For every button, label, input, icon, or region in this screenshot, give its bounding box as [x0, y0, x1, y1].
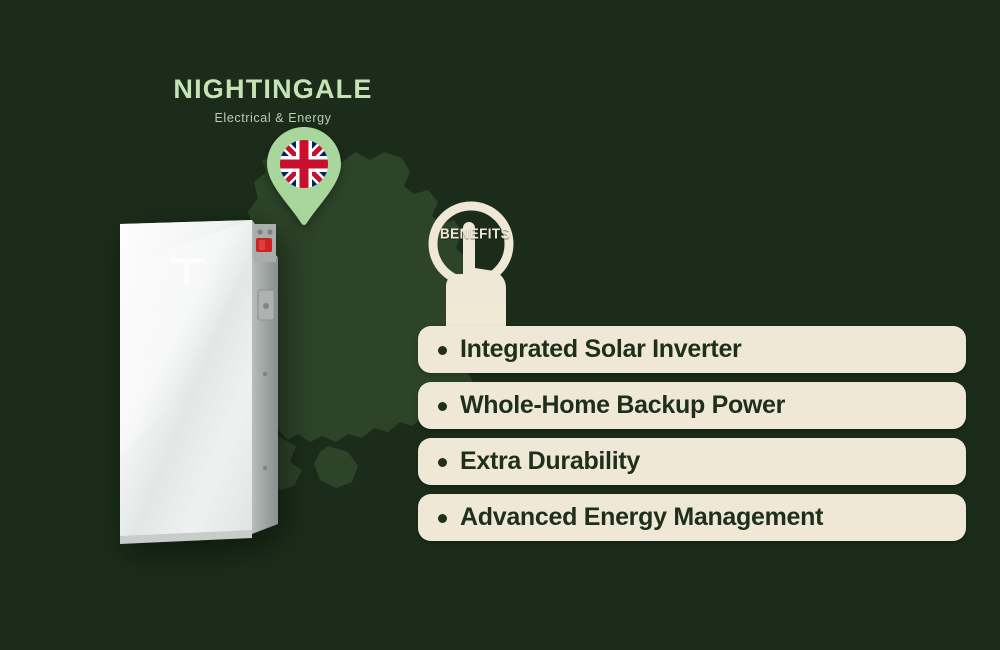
benefit-label: Whole-Home Backup Power: [460, 393, 785, 418]
benefit-pill[interactable]: Extra Durability: [418, 438, 966, 485]
benefit-pill[interactable]: Whole-Home Backup Power: [418, 382, 966, 429]
brand-tagline: Electrical & Energy: [108, 112, 438, 125]
benefit-label: Integrated Solar Inverter: [460, 337, 741, 362]
bullet-icon: [438, 402, 447, 411]
benefit-pill[interactable]: Advanced Energy Management: [418, 494, 966, 541]
tesla-powerwall-battery-icon: [110, 206, 310, 546]
bullet-icon: [438, 458, 447, 467]
benefit-pill[interactable]: Integrated Solar Inverter: [418, 326, 966, 373]
poster-canvas: NIGHTINGALE Electrical & Energy: [0, 0, 1000, 650]
bullet-icon: [438, 514, 447, 523]
brand-name: NIGHTINGALE: [108, 76, 438, 103]
benefits-badge[interactable]: BENEFITS: [414, 196, 536, 331]
bullet-icon: [438, 346, 447, 355]
pointing-hand-icon: [446, 222, 506, 331]
benefits-list: Integrated Solar Inverter Whole-Home Bac…: [418, 326, 966, 541]
benefit-label: Advanced Energy Management: [460, 505, 823, 530]
brand-logo: NIGHTINGALE Electrical & Energy: [108, 76, 438, 125]
benefit-label: Extra Durability: [460, 449, 640, 474]
